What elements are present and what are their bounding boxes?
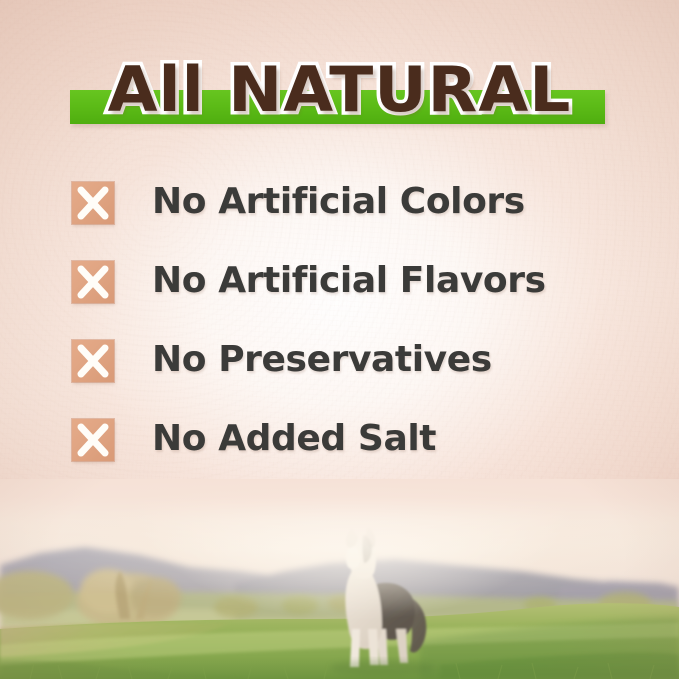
feature-row: No Artificial Flavors xyxy=(72,259,632,338)
feature-list: No Artificial Colors No Artificial Flavo… xyxy=(72,180,632,496)
headline-title: All NATURAL xyxy=(0,48,679,132)
headline-banner: All NATURAL xyxy=(0,48,679,132)
x-mark-icon xyxy=(72,182,114,224)
feature-label: No Preservatives xyxy=(152,338,492,382)
feature-row: No Preservatives xyxy=(72,338,632,417)
all-natural-feature-poster: All NATURAL No Artificial Colors No Arti… xyxy=(0,0,679,679)
feature-label: No Artificial Flavors xyxy=(152,259,546,303)
feature-row: No Artificial Colors xyxy=(72,180,632,259)
feature-label: No Artificial Colors xyxy=(152,180,525,224)
border-collie-on-grassy-hill-photo xyxy=(0,479,679,679)
x-mark-icon xyxy=(72,261,114,303)
x-mark-icon xyxy=(72,419,114,461)
x-mark-icon xyxy=(72,340,114,382)
feature-label: No Added Salt xyxy=(152,417,436,461)
